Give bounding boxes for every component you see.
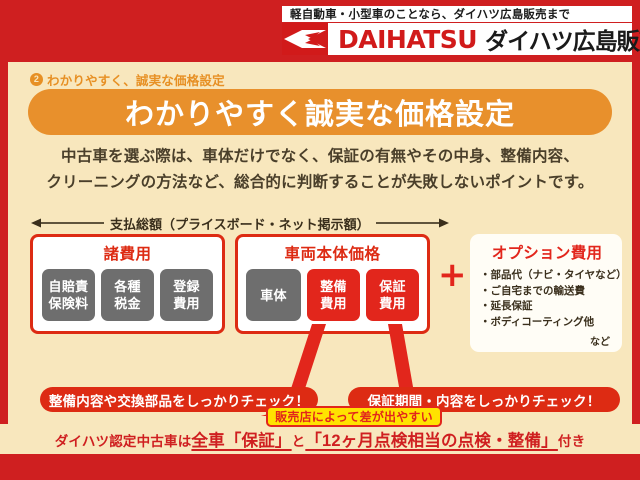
chip-line-2: 費用 bbox=[173, 295, 200, 312]
arrow-right-icon bbox=[376, 217, 450, 229]
chip-line-1: 保証 bbox=[379, 278, 406, 295]
cost-chip: 各種 税金 bbox=[101, 269, 154, 321]
footer-emphasis-warranty: 全車「保証」 bbox=[191, 427, 291, 451]
chip-line-2: 保険料 bbox=[49, 295, 89, 312]
arrow-left-icon bbox=[30, 217, 104, 229]
brand-latin-name: DAIHATSU bbox=[328, 23, 485, 55]
cost-box-vehicle-price: 車両本体価格 車体 整備 費用 保証 費用 bbox=[235, 234, 430, 334]
cost-chip-warranty: 保証 費用 bbox=[366, 269, 419, 321]
cost-chip-maintenance: 整備 費用 bbox=[307, 269, 360, 321]
chip-line-1: 各種 bbox=[114, 278, 141, 295]
list-item: ・延長保証 bbox=[480, 299, 614, 315]
lead-line-1: 中古車を選ぶ際は、車体だけでなく、保証の有無やその中身、整備内容、 bbox=[8, 144, 632, 170]
footer-part-1: ダイハツ認定中古車は bbox=[55, 430, 192, 450]
lead-line-2: クリーニングの方法など、総合的に判断することが失敗しないポイントです。 bbox=[8, 170, 632, 196]
content-panel: 2 わかりやすく、誠実な価格設定 わかりやすく誠実な価格設定 中古車を選ぶ際は、… bbox=[8, 62, 632, 452]
footer-emphasis-inspection: 「12ヶ月点検相当の点検・整備」 bbox=[305, 427, 558, 451]
callout-badge: 販売店によって差が出やすい bbox=[266, 406, 442, 427]
logo-row: DAIHATSU ダイハツ広島販売 bbox=[282, 23, 632, 55]
callout-label: 販売店によって差が出やすい bbox=[275, 408, 433, 425]
infographic-page: 軽自動車・小型車のことなら、ダイハツ広島販売まで DAIHATSU ダイハツ広島… bbox=[0, 0, 640, 480]
chip-line-2: 税金 bbox=[114, 295, 141, 312]
footer-statement: ダイハツ認定中古車は 全車「保証」 と 「12ヶ月点検相当の点検・整備」 付き bbox=[55, 427, 586, 451]
cost-box-title: 車両本体価格 bbox=[284, 242, 380, 264]
plus-separator-icon: + bbox=[438, 258, 467, 292]
footer-part-5: 付き bbox=[558, 430, 585, 450]
options-title: オプション費用 bbox=[480, 241, 614, 263]
lead-paragraph: 中古車を選ぶ際は、車体だけでなく、保証の有無やその中身、整備内容、 クリーニング… bbox=[8, 144, 632, 196]
cost-chip: 登録 費用 bbox=[160, 269, 213, 321]
cost-box-fees: 諸費用 自賠責 保険料 各種 税金 登録 費用 bbox=[30, 234, 225, 334]
cost-chip: 自賠責 保険料 bbox=[42, 269, 95, 321]
section-title-banner: わかりやすく誠実な価格設定 bbox=[28, 89, 612, 135]
header-tagline: 軽自動車・小型車のことなら、ダイハツ広島販売まで bbox=[282, 6, 632, 22]
chip-line-2: 費用 bbox=[379, 295, 406, 312]
total-amount-scale: 支払総額（プライスボード・ネット掲示額） bbox=[30, 212, 430, 234]
options-list: ・部品代（ナビ・タイヤなど） ・ご自宅までの輸送費 ・延長保証 ・ボディコーティ… bbox=[480, 268, 614, 330]
section-kicker: 2 わかりやすく、誠実な価格設定 bbox=[30, 70, 225, 89]
chip-line-1: 車体 bbox=[260, 287, 287, 304]
header-bar: 軽自動車・小型車のことなら、ダイハツ広島販売まで DAIHATSU ダイハツ広島… bbox=[0, 0, 640, 62]
total-amount-label: 支払総額（プライスボード・ネット掲示額） bbox=[104, 214, 376, 233]
daihatsu-d-emblem-icon bbox=[282, 23, 328, 55]
page-title: わかりやすく誠実な価格設定 bbox=[125, 91, 515, 133]
chip-group: 自賠責 保険料 各種 税金 登録 費用 bbox=[42, 269, 213, 321]
chip-line-1: 自賠責 bbox=[49, 278, 89, 295]
footer-band: ダイハツ認定中古車は 全車「保証」 と 「12ヶ月点検相当の点検・整備」 付き bbox=[0, 424, 640, 454]
list-item: ・ご自宅までの輸送費 bbox=[480, 284, 614, 300]
chip-group: 車体 整備 費用 保証 費用 bbox=[246, 269, 419, 321]
section-kicker-label: わかりやすく、誠実な価格設定 bbox=[47, 70, 225, 89]
brand-jp-name: ダイハツ広島販売 bbox=[485, 23, 640, 55]
list-item: ・部品代（ナビ・タイヤなど） bbox=[480, 268, 614, 284]
section-number-badge: 2 bbox=[30, 73, 43, 86]
footer-part-3: と bbox=[292, 430, 306, 450]
cost-chip: 車体 bbox=[246, 269, 301, 321]
dealer-logo-block: 軽自動車・小型車のことなら、ダイハツ広島販売まで DAIHATSU ダイハツ広島… bbox=[282, 6, 632, 55]
chip-line-2: 費用 bbox=[320, 295, 347, 312]
chip-line-1: 登録 bbox=[173, 278, 200, 295]
chip-line-1: 整備 bbox=[320, 278, 347, 295]
cost-box-title: 諸費用 bbox=[103, 242, 151, 264]
cost-breakdown-boxes: 諸費用 自賠責 保険料 各種 税金 登録 費用 bbox=[30, 234, 430, 334]
